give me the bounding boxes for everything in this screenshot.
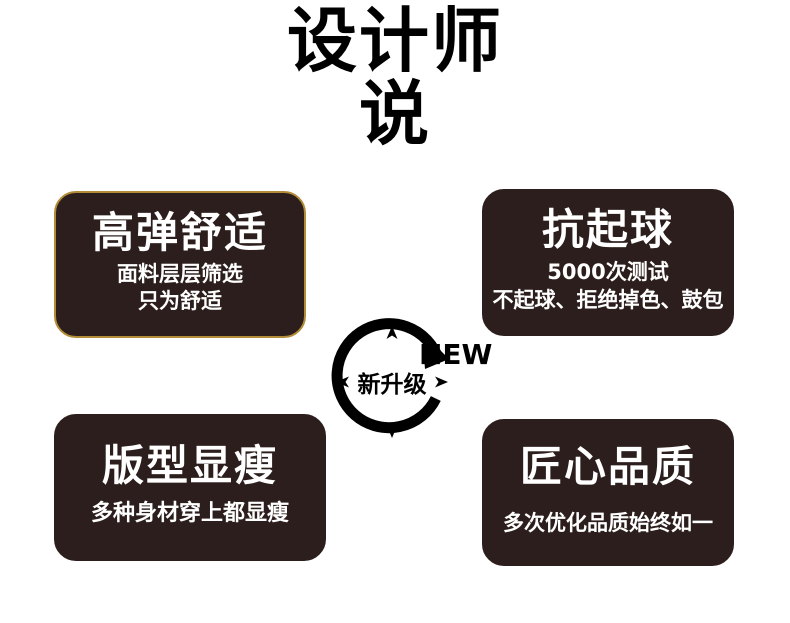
- page-title-line-1: 设计师: [0, 8, 790, 75]
- feature-card-slimming-fit[interactable]: 版型显瘦 多种身材穿上都显瘦: [54, 414, 326, 561]
- feature-subtext-line-2: 只为舒适: [138, 288, 222, 315]
- feature-headline: 匠心品质: [520, 444, 696, 489]
- circular-refresh-arrow-icon: [322, 312, 462, 452]
- feature-subtext-line-1: 面料层层筛选: [117, 261, 243, 288]
- page-title: 设计师 说: [0, 8, 790, 147]
- feature-subtext-line-1: 多次优化品质始终如一: [503, 510, 713, 537]
- feature-card-high-elasticity[interactable]: 高弹舒适 面料层层筛选 只为舒适: [54, 191, 306, 338]
- page-title-line-2: 说: [0, 81, 790, 148]
- feature-subtext-line-1: 多种身材穿上都显瘦: [91, 500, 289, 528]
- badge-new-label: NEW: [419, 338, 492, 371]
- feature-subtext-line-1: 5000次测试: [547, 259, 668, 286]
- feature-subtext-line-2: 不起球、拒绝掉色、鼓包: [493, 287, 724, 314]
- feature-headline: 版型显瘦: [102, 443, 278, 488]
- feature-card-anti-pilling[interactable]: 抗起球 5000次测试 不起球、拒绝掉色、鼓包: [482, 189, 734, 336]
- feature-headline: 抗起球: [542, 207, 674, 252]
- center-upgrade-badge[interactable]: 新升级 NEW: [322, 312, 462, 452]
- feature-card-craftsmanship-quality[interactable]: 匠心品质 多次优化品质始终如一: [482, 419, 734, 566]
- feature-headline: 高弹舒适: [92, 210, 268, 255]
